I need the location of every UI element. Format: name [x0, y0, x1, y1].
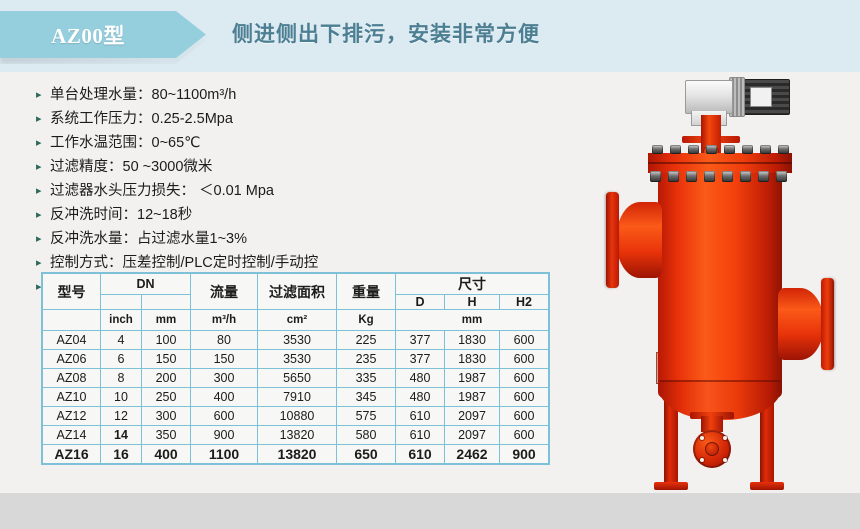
cell-mm: 100 — [142, 331, 191, 350]
col-header-dimensions: 尺寸 — [396, 273, 550, 295]
triangle-bullet-icon: ▸ — [36, 258, 46, 268]
spec-item: ▸ 反冲洗水量：占过滤水量1~3% — [36, 228, 396, 250]
gearbox-icon — [685, 80, 733, 114]
table-row: AZ12 12 300 600 10880 575 610 2097 600 — [42, 407, 549, 426]
col-header-dn-inch-span — [101, 295, 142, 310]
cell-h: 2462 — [445, 445, 500, 465]
outlet-nozzle-flange — [821, 278, 834, 370]
cell-h2: 900 — [500, 445, 550, 465]
top-flange-groove — [648, 162, 792, 164]
spec-item-text: 单台处理水量：80~1100m³/h — [50, 84, 236, 106]
drain-bolt-icon — [723, 436, 727, 440]
cell-area: 7910 — [258, 388, 337, 407]
cell-h2: 600 — [500, 388, 550, 407]
cell-mm: 300 — [142, 407, 191, 426]
cell-inch: 10 — [101, 388, 142, 407]
model-tag: AZ00型 — [0, 11, 212, 58]
drain-bolt-icon — [700, 436, 704, 440]
col-header-weight: 重量 — [337, 273, 396, 310]
spec-item-text: 控制方式：压差控制/PLC定时控制/手动控 — [50, 252, 318, 274]
flange-bolt-icon — [650, 171, 661, 182]
drain-valve-hub — [705, 442, 719, 456]
cell-weight: 225 — [337, 331, 396, 350]
cell-h2: 600 — [500, 331, 550, 350]
flange-bolt-icon — [760, 145, 771, 154]
cell-inch: 12 — [101, 407, 142, 426]
cell-area: 13820 — [258, 445, 337, 465]
spec-item-text: 反冲洗时间：12~18秒 — [50, 204, 192, 226]
motor-terminal-box-icon — [750, 87, 772, 107]
header-subtitle: 侧进侧出下排污，安装非常方便 — [232, 18, 540, 48]
cell-weight: 335 — [337, 369, 396, 388]
cell-h2: 600 — [500, 369, 550, 388]
cell-mm: 250 — [142, 388, 191, 407]
flange-bolt-icon — [722, 171, 733, 182]
cell-weight: 345 — [337, 388, 396, 407]
col-header-flow: 流量 — [191, 273, 258, 310]
cell-weight: 235 — [337, 350, 396, 369]
cell-model: AZ10 — [42, 388, 101, 407]
spec-item: ▸ 单台处理水量：80~1100m³/h — [36, 84, 396, 106]
col-header-h: H — [445, 295, 500, 310]
flange-bolt-icon — [724, 145, 735, 154]
vessel-shell — [658, 170, 782, 398]
drain-bolt-icon — [723, 458, 727, 462]
cell-weight: 650 — [337, 445, 396, 465]
spec-item-text: 过滤精度：50 ~3000微米 — [50, 156, 212, 178]
spec-item: ▸ 控制方式：压差控制/PLC定时控制/手动控 — [36, 252, 396, 274]
unit-dimensions: mm — [396, 310, 550, 331]
spec-item-text: 系统工作压力：0.25-2.5Mpa — [50, 108, 233, 130]
unit-mm: mm — [142, 310, 191, 331]
triangle-bullet-icon: ▸ — [36, 162, 46, 172]
flange-bolt-icon — [706, 145, 717, 154]
cell-model: AZ06 — [42, 350, 101, 369]
flange-bolt-icon — [742, 145, 753, 154]
flange-bolt-icon — [686, 171, 697, 182]
table-row: AZ08 8 200 300 5650 335 480 1987 600 — [42, 369, 549, 388]
cell-d: 480 — [396, 388, 445, 407]
unit-weight: Kg — [337, 310, 396, 331]
cell-h2: 600 — [500, 407, 550, 426]
table-row: AZ06 6 150 150 3530 235 377 1830 600 — [42, 350, 549, 369]
cell-flow: 150 — [191, 350, 258, 369]
filter-vessel-illustration — [560, 70, 860, 510]
spec-item-text: 过滤器水头压力损失： ＜0.01 Mpa — [50, 180, 274, 202]
outlet-nozzle — [778, 288, 824, 360]
cell-flow: 400 — [191, 388, 258, 407]
flange-bolt-icon — [758, 171, 769, 182]
flange-bolt-icon — [778, 145, 789, 154]
cell-d: 610 — [396, 426, 445, 445]
cell-inch: 16 — [101, 445, 142, 465]
inlet-nozzle — [616, 202, 662, 278]
table-unit-row: inch mm m³/h cm² Kg mm — [42, 310, 549, 331]
table-row: AZ16 16 400 1100 13820 650 610 2462 900 — [42, 445, 549, 465]
triangle-bullet-icon: ▸ — [36, 186, 46, 196]
cell-mm: 400 — [142, 445, 191, 465]
flange-bolt-icon — [740, 171, 751, 182]
cell-model: AZ04 — [42, 331, 101, 350]
cell-h: 1987 — [445, 388, 500, 407]
cell-flow: 600 — [191, 407, 258, 426]
cell-h: 1987 — [445, 369, 500, 388]
table-row: AZ14 14 350 900 13820 580 610 2097 600 — [42, 426, 549, 445]
triangle-bullet-icon: ▸ — [36, 138, 46, 148]
spec-item-text: 反冲洗水量：占过滤水量1~3% — [50, 228, 247, 250]
spec-item: ▸ 反冲洗时间：12~18秒 — [36, 204, 396, 226]
spec-item: ▸ 系统工作压力：0.25-2.5Mpa — [36, 108, 396, 130]
flange-bolt-icon — [688, 145, 699, 154]
cell-inch: 6 — [101, 350, 142, 369]
cell-h: 1830 — [445, 350, 500, 369]
cell-area: 5650 — [258, 369, 337, 388]
cell-model: AZ14 — [42, 426, 101, 445]
triangle-bullet-icon: ▸ — [36, 210, 46, 220]
cell-model: AZ16 — [42, 445, 101, 465]
leg-base-plate-left — [654, 482, 688, 490]
cell-mm: 200 — [142, 369, 191, 388]
triangle-bullet-icon: ▸ — [36, 114, 46, 124]
cell-mm: 150 — [142, 350, 191, 369]
triangle-bullet-icon: ▸ — [36, 90, 46, 100]
leg-base-plate-right — [750, 482, 784, 490]
col-header-d: D — [396, 295, 445, 310]
specification-table: 型号 DN 流量 过滤面积 重量 尺寸 D H H2 inch mm m³/h … — [41, 272, 550, 465]
unit-area: cm² — [258, 310, 337, 331]
col-header-model: 型号 — [42, 273, 101, 310]
cell-model: AZ12 — [42, 407, 101, 426]
model-tag-label: AZ00型 — [0, 11, 176, 58]
cell-mm: 350 — [142, 426, 191, 445]
unit-inch: inch — [101, 310, 142, 331]
flange-bolt-icon — [668, 171, 679, 182]
table-row: AZ04 4 100 80 3530 225 377 1830 600 — [42, 331, 549, 350]
cell-inch: 4 — [101, 331, 142, 350]
unit-flow: m³/h — [191, 310, 258, 331]
slide-page: AZ00型 侧进侧出下排污，安装非常方便 ▸ 单台处理水量：80~1100m³/… — [0, 0, 860, 529]
cell-h: 2097 — [445, 426, 500, 445]
unit-model — [42, 310, 101, 331]
spec-item: ▸ 过滤精度：50 ~3000微米 — [36, 156, 396, 178]
cell-d: 480 — [396, 369, 445, 388]
flange-bolt-icon — [652, 145, 663, 154]
cell-area: 3530 — [258, 350, 337, 369]
cell-model: AZ08 — [42, 369, 101, 388]
specification-list: ▸ 单台处理水量：80~1100m³/h ▸ 系统工作压力：0.25-2.5Mp… — [36, 84, 396, 300]
cell-d: 610 — [396, 407, 445, 426]
flange-bolt-icon — [776, 171, 787, 182]
col-header-area: 过滤面积 — [258, 273, 337, 310]
cell-d: 610 — [396, 445, 445, 465]
cell-area: 13820 — [258, 426, 337, 445]
cell-flow: 300 — [191, 369, 258, 388]
spec-item: ▸ 工作水温范围：0~65℃ — [36, 132, 396, 154]
flange-bolt-icon — [670, 145, 681, 154]
col-header-dn-mm-span — [142, 295, 191, 310]
cell-d: 377 — [396, 331, 445, 350]
cell-flow: 900 — [191, 426, 258, 445]
col-header-dn: DN — [101, 273, 191, 295]
cell-d: 377 — [396, 350, 445, 369]
spec-item: ▸ 过滤器水头压力损失： ＜0.01 Mpa — [36, 180, 396, 202]
cell-flow: 80 — [191, 331, 258, 350]
cell-h: 1830 — [445, 331, 500, 350]
vessel-bottom-seam — [660, 380, 780, 382]
table-header-row: 型号 DN 流量 过滤面积 重量 尺寸 — [42, 273, 549, 295]
cell-h: 2097 — [445, 407, 500, 426]
spec-item-text: 工作水温范围：0~65℃ — [50, 132, 200, 154]
cell-area: 3530 — [258, 331, 337, 350]
flange-bolt-icon — [704, 171, 715, 182]
cell-weight: 575 — [337, 407, 396, 426]
header-band: AZ00型 侧进侧出下排污，安装非常方便 — [0, 0, 860, 72]
cell-h2: 600 — [500, 350, 550, 369]
cell-flow: 1100 — [191, 445, 258, 465]
cell-inch: 8 — [101, 369, 142, 388]
cell-h2: 600 — [500, 426, 550, 445]
col-header-h2: H2 — [500, 295, 550, 310]
cell-inch: 14 — [101, 426, 142, 445]
table-row: AZ10 10 250 400 7910 345 480 1987 600 — [42, 388, 549, 407]
inlet-nozzle-flange — [606, 192, 619, 288]
triangle-bullet-icon: ▸ — [36, 234, 46, 244]
cell-area: 10880 — [258, 407, 337, 426]
drain-bolt-icon — [700, 458, 704, 462]
cell-weight: 580 — [337, 426, 396, 445]
